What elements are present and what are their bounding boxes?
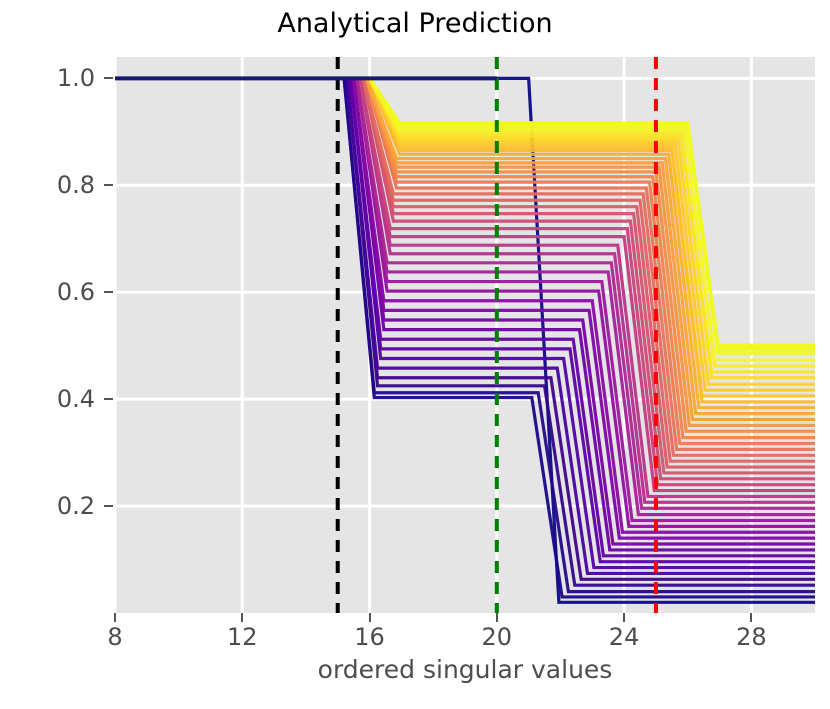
y-tick-mark <box>104 77 113 79</box>
y-tick-label: 0.8 <box>0 171 95 199</box>
chart-root: Analytical Prediction 0.20.40.60.81.0 81… <box>0 0 830 709</box>
x-tick-label: 16 <box>330 623 410 651</box>
x-tick-label: 8 <box>75 623 155 651</box>
curve-41 <box>115 78 815 360</box>
x-tick-mark <box>623 613 625 622</box>
y-tick-mark <box>104 505 113 507</box>
x-tick-label: 24 <box>584 623 664 651</box>
x-tick-label: 28 <box>711 623 791 651</box>
x-tick-mark <box>241 613 243 622</box>
series-layer <box>115 78 815 602</box>
y-tick-mark <box>104 291 113 293</box>
y-tick-mark <box>104 398 113 400</box>
plot-area <box>115 57 815 613</box>
y-tick-label: 0.6 <box>0 278 95 306</box>
y-tick-mark <box>104 184 113 186</box>
x-tick-mark <box>750 613 752 622</box>
y-tick-label: 1.0 <box>0 64 95 92</box>
x-tick-label: 20 <box>457 623 537 651</box>
chart-title: Analytical Prediction <box>0 8 830 39</box>
y-tick-label: 0.4 <box>0 385 95 413</box>
x-tick-label: 12 <box>202 623 282 651</box>
x-tick-mark <box>114 613 116 622</box>
x-axis-label: ordered singular values <box>115 655 815 684</box>
x-tick-mark <box>369 613 371 622</box>
y-tick-label: 0.2 <box>0 492 95 520</box>
plot-canvas <box>115 57 815 613</box>
x-tick-mark <box>496 613 498 622</box>
